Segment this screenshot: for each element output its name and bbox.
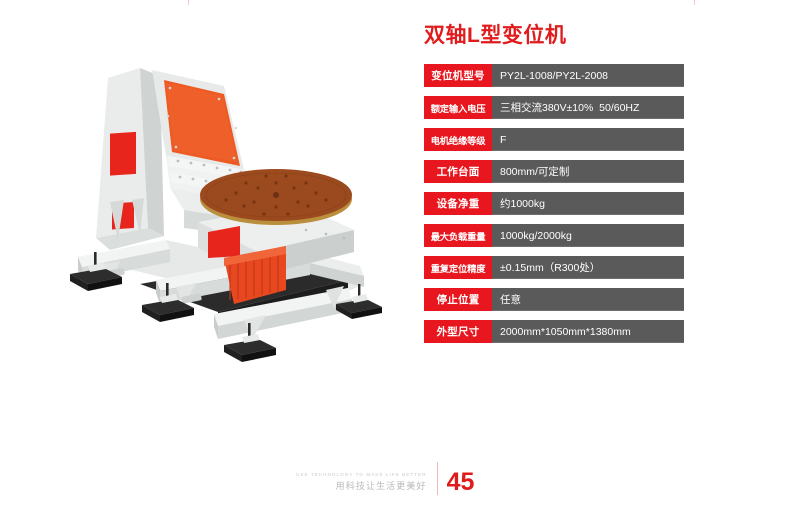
footer-divider [437, 462, 438, 495]
crop-mark-left [188, 0, 189, 5]
footer-slogan-cn: 用科技让生活更美好 [296, 479, 427, 492]
spec-value: ±0.15mm（R300处） [492, 256, 684, 279]
footer-slogan-en: USE TECHNOLOGY TO MAKE LIFE BETTER [296, 472, 427, 477]
table-row: 外型尺寸 2000mm*1050mm*1380mm [424, 320, 684, 343]
spec-value: 1000kg/2000kg [492, 224, 684, 247]
spec-value: PY2L-1008/PY2L-2008 [492, 64, 684, 87]
spec-panel: 双轴L型变位机 变位机型号 PY2L-1008/PY2L-2008 额定输入电压… [424, 24, 684, 352]
spec-value: 约1000kg [492, 192, 684, 215]
spec-table: 变位机型号 PY2L-1008/PY2L-2008 额定输入电压 三相交流380… [424, 64, 684, 343]
page-number: 45 [447, 470, 475, 496]
footer-slogan: USE TECHNOLOGY TO MAKE LIFE BETTER 用科技让生… [296, 472, 437, 496]
spec-value: 任意 [492, 288, 684, 311]
table-row: 工作台面 800mm/可定制 [424, 160, 684, 183]
table-row: 设备净重 约1000kg [424, 192, 684, 215]
table-row: 最大负载重量 1000kg/2000kg [424, 224, 684, 247]
table-row: 变位机型号 PY2L-1008/PY2L-2008 [424, 64, 684, 87]
table-row: 重复定位精度 ±0.15mm（R300处） [424, 256, 684, 279]
spec-label: 电机绝缘等级 [424, 128, 492, 151]
page-title: 双轴L型变位机 [424, 24, 684, 47]
table-row: 额定输入电压 三相交流380V±10% 50/60HZ [424, 96, 684, 119]
spec-value: 三相交流380V±10% 50/60HZ [492, 96, 684, 119]
crop-mark-right [694, 0, 695, 5]
spec-label: 停止位置 [424, 288, 492, 311]
spec-label: 外型尺寸 [424, 320, 492, 343]
spec-label: 额定输入电压 [424, 96, 492, 119]
spec-value: 2000mm*1050mm*1380mm [492, 320, 684, 343]
table-row: 电机绝缘等级 F [424, 128, 684, 151]
table-row: 停止位置 任意 [424, 288, 684, 311]
spec-label: 最大负载重量 [424, 224, 492, 247]
spec-label: 工作台面 [424, 160, 492, 183]
spec-value: 800mm/可定制 [492, 160, 684, 183]
spec-label: 设备净重 [424, 192, 492, 215]
product-image [48, 52, 408, 402]
spec-value: F [492, 128, 684, 151]
catalog-page: 双轴L型变位机 变位机型号 PY2L-1008/PY2L-2008 额定输入电压… [0, 0, 800, 507]
spec-label: 重复定位精度 [424, 256, 492, 279]
spec-label: 变位机型号 [424, 64, 492, 87]
page-footer: USE TECHNOLOGY TO MAKE LIFE BETTER 用科技让生… [0, 452, 800, 496]
